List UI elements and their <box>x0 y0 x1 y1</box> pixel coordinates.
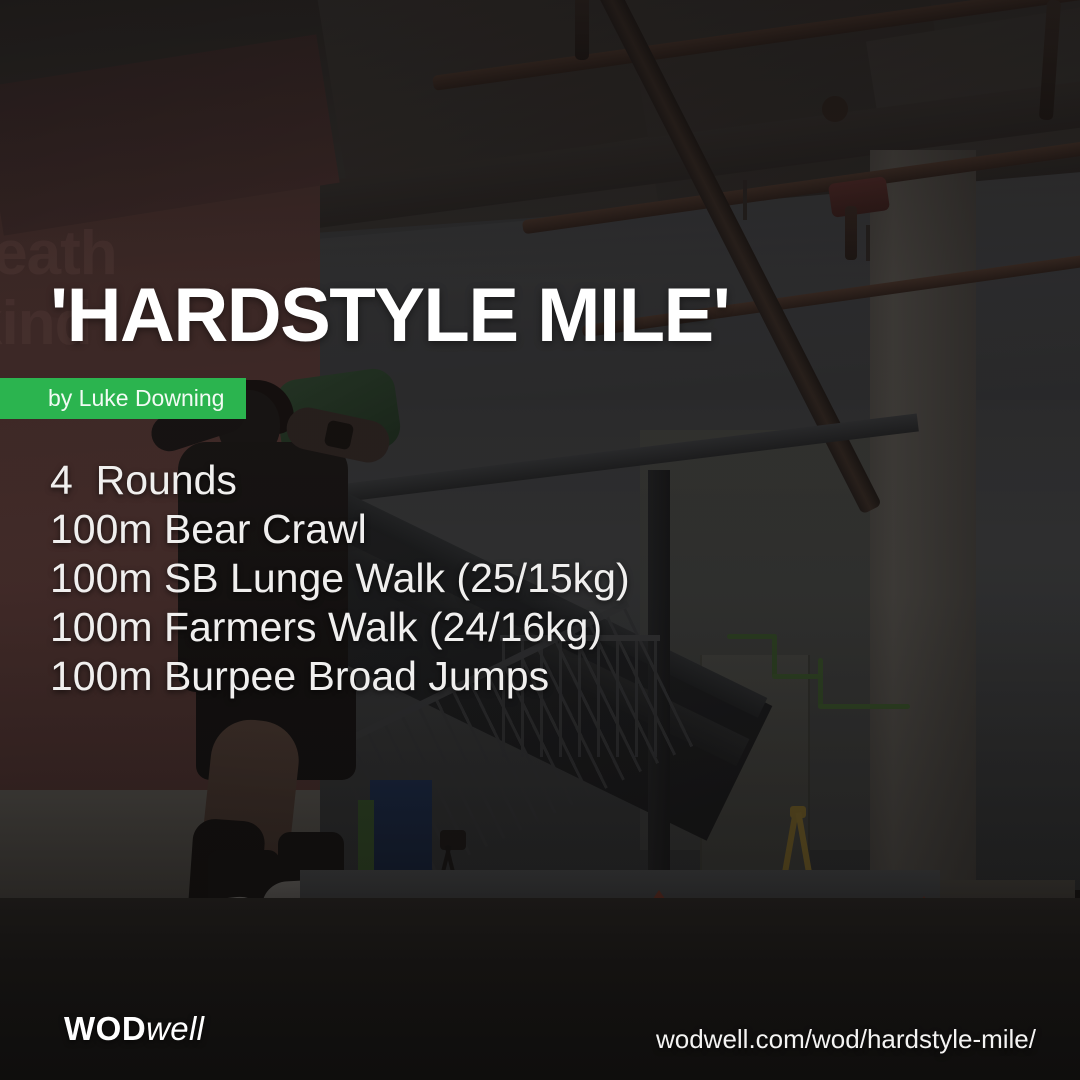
author-badge-label: by Luke Downing <box>48 385 224 412</box>
logo-well-text: well <box>146 1010 204 1047</box>
wodwell-logo[interactable]: WODwell <box>64 1012 204 1045</box>
wod-description: 4 Rounds 100m Bear Crawl 100m SB Lunge W… <box>50 456 630 701</box>
wod-line-movement: 100m Burpee Broad Jumps <box>50 652 630 701</box>
wod-line-movement: 100m Farmers Walk (24/16kg) <box>50 603 630 652</box>
logo-wod-text: WOD <box>64 1010 146 1047</box>
card-content: 'HARDSTYLE MILE' by Luke Downing 4 Round… <box>0 0 1080 1080</box>
wod-line-movement: 100m Bear Crawl <box>50 505 630 554</box>
wod-line-rounds: 4 Rounds <box>50 456 630 505</box>
site-url[interactable]: wodwell.com/wod/hardstyle-mile/ <box>656 1026 1036 1052</box>
author-badge: by Luke Downing <box>0 378 246 419</box>
wod-line-movement: 100m SB Lunge Walk (25/15kg) <box>50 554 630 603</box>
wod-card: reath kind <box>0 0 1080 1080</box>
wod-title: 'HARDSTYLE MILE' <box>50 278 729 354</box>
